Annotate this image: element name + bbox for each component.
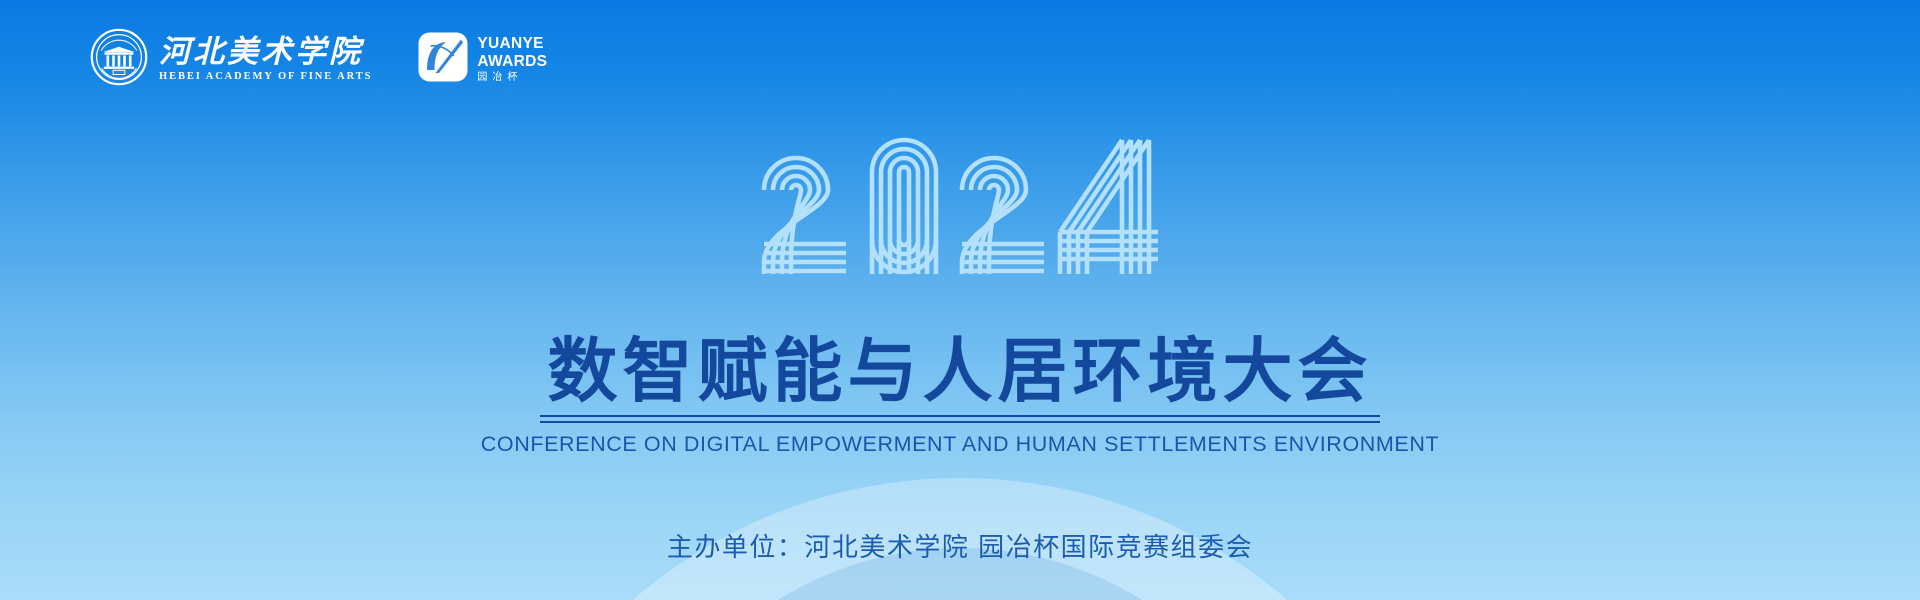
headline-block: 数智赋能与人居环境大会 CONFERENCE ON DIGITAL EMPOWE… [0, 336, 1920, 457]
hebei-academy-seal-icon [90, 28, 148, 91]
logo-row: 河北美术学院 HEBEI ACADEMY OF FINE ARTS YUANYE… [90, 28, 547, 91]
headline-rule-1 [540, 415, 1380, 417]
conference-banner: 河北美术学院 HEBEI ACADEMY OF FINE ARTS YUANYE… [0, 0, 1920, 600]
yuanye-name-cn: 园冶杯 [477, 73, 547, 83]
headline-title-cn: 数智赋能与人居环境大会 [0, 336, 1920, 407]
yuanye-logo-text: YUANYE AWARDS 园冶杯 [477, 36, 547, 83]
organizer-line: 主办单位：河北美术学院 园冶杯国际竞赛组委会 [0, 527, 1920, 564]
yuanye-line2: AWARDS [477, 54, 547, 70]
headline-rule-2 [540, 421, 1380, 423]
yuanye-awards-mark-icon [418, 32, 468, 87]
headline-divider-rules [540, 415, 1380, 423]
headline-title-en: CONFERENCE ON DIGITAL EMPOWERMENT AND HU… [0, 432, 1920, 457]
hebei-name-cn: 河北美术学院 [159, 36, 372, 67]
yuanye-line1: YUANYE [477, 36, 547, 52]
hebei-name-en: HEBEI ACADEMY OF FINE ARTS [159, 72, 372, 83]
year-2024-graphic [754, 132, 1166, 285]
hebei-academy-logo[interactable]: 河北美术学院 HEBEI ACADEMY OF FINE ARTS [90, 28, 372, 91]
year-2024-svg [754, 132, 1166, 280]
hebei-logo-text: 河北美术学院 HEBEI ACADEMY OF FINE ARTS [159, 36, 372, 83]
yuanye-awards-logo[interactable]: YUANYE AWARDS 园冶杯 [418, 32, 547, 87]
